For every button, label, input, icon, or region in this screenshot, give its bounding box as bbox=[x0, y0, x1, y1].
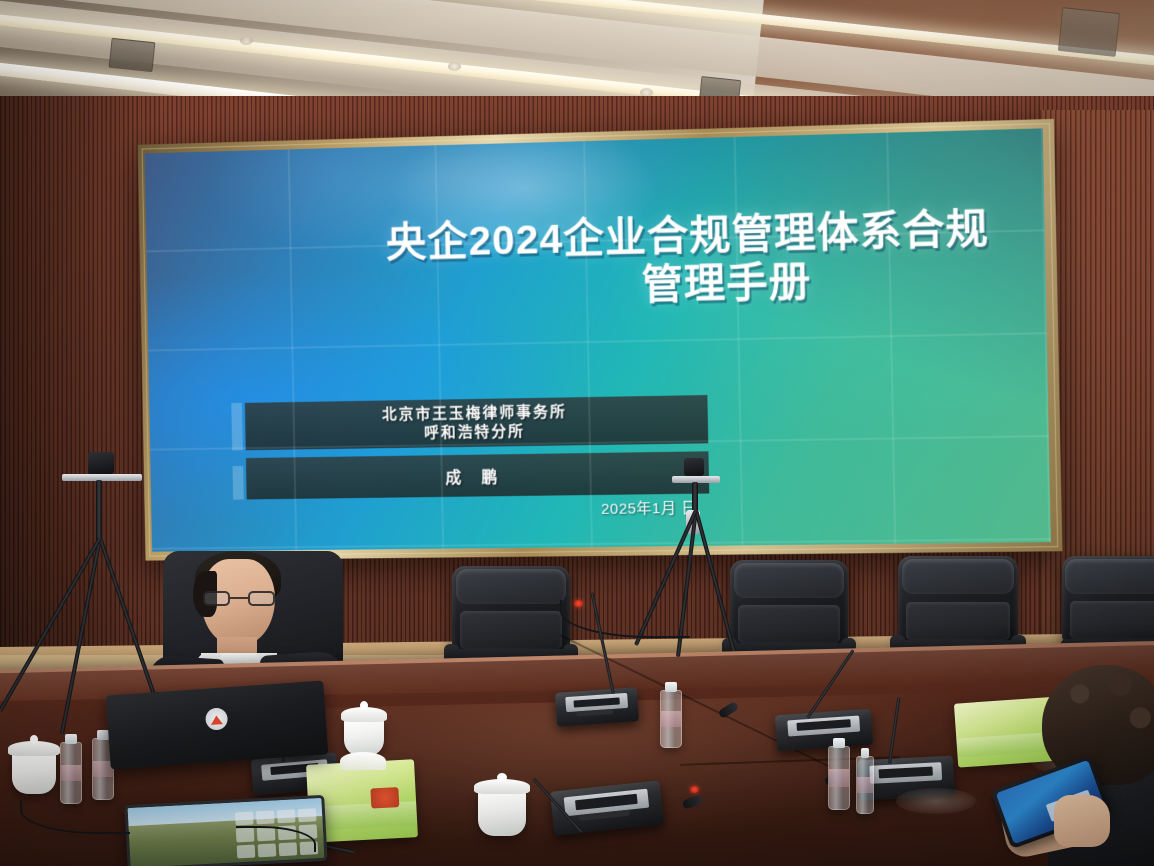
microphone-1[interactable] bbox=[555, 687, 639, 727]
credit-accent-bar-1 bbox=[231, 403, 243, 451]
attendee-hand bbox=[1054, 795, 1110, 847]
laptop-1-lid[interactable] bbox=[106, 680, 329, 769]
presentation-slide: 央企2024企业合规管理体系合规 管理手册 北京市王玉梅律师事务所 呼和浩特分所… bbox=[145, 128, 1051, 551]
desktop-icon[interactable] bbox=[277, 809, 296, 824]
bottle-label bbox=[61, 765, 81, 782]
desktop-icon[interactable] bbox=[235, 811, 254, 826]
teacup-knob bbox=[360, 701, 368, 710]
conference-room-photo: 央企2024企业合规管理体系合规 管理手册 北京市王玉梅律师事务所 呼和浩特分所… bbox=[0, 0, 1154, 866]
bottle-cap bbox=[65, 734, 76, 744]
chair-headrest bbox=[734, 563, 845, 598]
downlight-2 bbox=[448, 62, 461, 71]
bottle-label bbox=[857, 777, 873, 793]
desktop-icon[interactable] bbox=[256, 810, 275, 825]
camera-icon bbox=[88, 452, 114, 474]
microphone-1-indicator bbox=[574, 600, 583, 607]
chair-lumbar bbox=[906, 602, 1009, 640]
chair-lumbar bbox=[460, 611, 561, 649]
bottle-label bbox=[661, 711, 681, 727]
chair-lumbar bbox=[1070, 601, 1154, 639]
tripod-column bbox=[692, 482, 698, 512]
attendee-with-phone bbox=[1020, 665, 1154, 866]
water-bottle-6[interactable] bbox=[856, 756, 874, 814]
teacup-3[interactable] bbox=[478, 790, 526, 836]
bottle-cap bbox=[833, 738, 844, 748]
video-wall-frame: 央企2024企业合规管理体系合规 管理手册 北京市王玉梅律师事务所 呼和浩特分所… bbox=[138, 119, 1063, 561]
chair-headrest bbox=[1065, 559, 1154, 594]
slide-title: 央企2024企业合规管理体系合规 管理手册 bbox=[198, 204, 990, 319]
chair-lumbar bbox=[738, 605, 839, 643]
water-bottle-4[interactable] bbox=[660, 690, 682, 748]
teacup-knob bbox=[497, 773, 507, 782]
camera-icon bbox=[684, 458, 704, 476]
eyeglass-lens-left bbox=[203, 591, 230, 606]
credit-accent-bar-2 bbox=[232, 466, 243, 500]
chair-headrest bbox=[902, 559, 1015, 594]
ceiling-vent-1 bbox=[109, 38, 156, 72]
bottle-cap bbox=[861, 748, 870, 758]
presenter-name-box: 成 鹏 bbox=[246, 451, 709, 499]
bottle-cap bbox=[97, 730, 108, 740]
eyeglass-lens-right bbox=[248, 591, 275, 606]
desktop-icon[interactable] bbox=[298, 808, 317, 823]
tripod-plate bbox=[62, 474, 142, 481]
microphone-3[interactable] bbox=[775, 709, 873, 752]
saucer-1 bbox=[896, 788, 976, 814]
bottle-label bbox=[829, 769, 849, 786]
tripod-leg-2 bbox=[694, 509, 736, 651]
teacup-2[interactable] bbox=[344, 718, 384, 756]
eyeglass-bridge bbox=[230, 597, 248, 599]
ceiling-vent-3 bbox=[1058, 7, 1120, 57]
teacup-1[interactable] bbox=[12, 752, 56, 794]
tripod-column bbox=[96, 480, 102, 542]
tissue-box-logo bbox=[370, 787, 399, 809]
slide-credits: 北京市王玉梅律师事务所 呼和浩特分所 成 鹏 bbox=[245, 395, 709, 500]
eyeglasses-icon bbox=[203, 591, 275, 606]
law-firm-box: 北京市王玉梅律师事务所 呼和浩特分所 bbox=[245, 395, 708, 451]
chair-headrest bbox=[456, 569, 567, 604]
water-bottle-1[interactable] bbox=[60, 742, 82, 804]
bottle-cap bbox=[665, 682, 676, 692]
laptop-logo-icon bbox=[205, 707, 228, 730]
downlight-1 bbox=[240, 36, 253, 45]
microphone-2-indicator bbox=[690, 786, 699, 793]
water-bottle-5[interactable] bbox=[828, 746, 850, 810]
led-video-wall[interactable]: 央企2024企业合规管理体系合规 管理手册 北京市王玉梅律师事务所 呼和浩特分所… bbox=[145, 128, 1051, 551]
tissue-sheet-1 bbox=[340, 752, 386, 770]
